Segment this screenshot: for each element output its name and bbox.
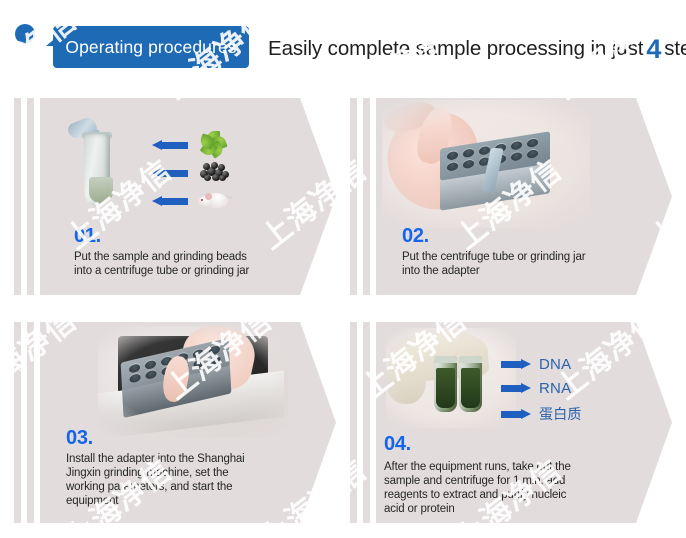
step-panel-1: 01. Put the sample and grinding beads in… <box>14 98 336 295</box>
arrow-left-icon <box>152 168 188 179</box>
arrow-left-icon <box>152 196 188 207</box>
step-panel-4: DNA RNA 蛋白质 04. After the equipment runs… <box>350 322 672 523</box>
sample-tube-icon <box>434 356 457 412</box>
step-description-line: Put the centrifuge tube or grinding jar <box>402 250 647 264</box>
step-description-line: into the adapter <box>402 264 647 278</box>
grinding-machine-photo <box>98 326 288 438</box>
panel-body: 02. Put the centrifuge tube or grinding … <box>376 98 672 295</box>
mouse-icon <box>198 190 230 210</box>
arrow-right-icon <box>501 409 531 420</box>
step-description-line: working parameters, and start the <box>66 480 316 494</box>
centrifuge-tube-illustration <box>40 98 270 218</box>
output-label: 蛋白质 <box>539 404 582 424</box>
step-panel-3: 03. Install the adapter into the Shangha… <box>14 322 336 523</box>
arrow-left-icon <box>152 140 188 151</box>
panel-stripe <box>350 98 357 295</box>
bubble-dot-icon <box>15 24 35 44</box>
output-label: DNA <box>539 356 571 373</box>
step-description-line: into a centrifuge tube or grinding jar <box>74 264 309 278</box>
output-row-dna: DNA <box>501 356 571 373</box>
step-description-line: Put the sample and grinding beads <box>74 250 309 264</box>
step-description-line: After the equipment runs, take out the <box>384 460 639 474</box>
operating-procedures-label: Operating procedures <box>53 26 249 68</box>
step-description-line: equipment <box>66 494 316 508</box>
step-description: Put the sample and grinding beads into a… <box>74 250 309 278</box>
step-description: Install the adapter into the Shanghai Ji… <box>66 452 316 508</box>
infographic-page: Operating procedures Easily complete sam… <box>0 0 686 538</box>
output-label: RNA <box>539 380 571 397</box>
panel-body: DNA RNA 蛋白质 04. After the equipment runs… <box>376 322 672 523</box>
output-row-protein: 蛋白质 <box>501 404 582 424</box>
headline-step-count: 4 <box>643 36 664 63</box>
arrow-right-icon <box>501 359 531 370</box>
step-description-line: Install the adapter into the Shanghai <box>66 452 316 466</box>
header: Operating procedures Easily complete sam… <box>0 0 686 86</box>
centrifuge-tube-icon <box>80 120 114 212</box>
sample-tube-icon <box>459 356 482 412</box>
output-row-rna: RNA <box>501 380 571 397</box>
sample-tubes-photo <box>386 328 516 428</box>
panel-body: 01. Put the sample and grinding beads in… <box>40 98 336 295</box>
panel-stripe <box>363 98 370 295</box>
step-description: Put the centrifuge tube or grinding jar … <box>402 250 647 278</box>
page-title: Easily complete sample processing in jus… <box>268 29 686 69</box>
step-description-line: reagents to extract and purify nucleic <box>384 488 639 502</box>
step-description-line: sample and centrifuge for 1 min, add <box>384 474 639 488</box>
arrow-right-icon <box>501 383 531 394</box>
step-description-line: Jingxin grinding machine, set the <box>66 466 316 480</box>
panel-stripe <box>27 322 34 523</box>
panel-stripe <box>14 98 21 295</box>
step-number: 02. <box>402 226 429 246</box>
grinding-beads-icon <box>198 162 230 182</box>
adapter-insertion-photo <box>382 100 590 228</box>
step-number: 03. <box>66 428 93 448</box>
step-description-line: acid or protein <box>384 502 639 516</box>
step-number: 04. <box>384 434 411 454</box>
panel-stripe <box>363 322 370 523</box>
leaf-icon <box>198 130 228 158</box>
step-description: After the equipment runs, take out the s… <box>384 460 639 516</box>
headline-suffix: steps: <box>664 37 686 61</box>
panel-stripe <box>14 322 21 523</box>
panel-body: 03. Install the adapter into the Shangha… <box>40 322 336 523</box>
panel-stripe <box>27 98 34 295</box>
step-number: 01. <box>74 226 101 246</box>
panel-stripe <box>350 322 357 523</box>
headline-prefix: Easily complete sample processing in jus… <box>268 37 643 61</box>
step-panel-2: 02. Put the centrifuge tube or grinding … <box>350 98 672 295</box>
